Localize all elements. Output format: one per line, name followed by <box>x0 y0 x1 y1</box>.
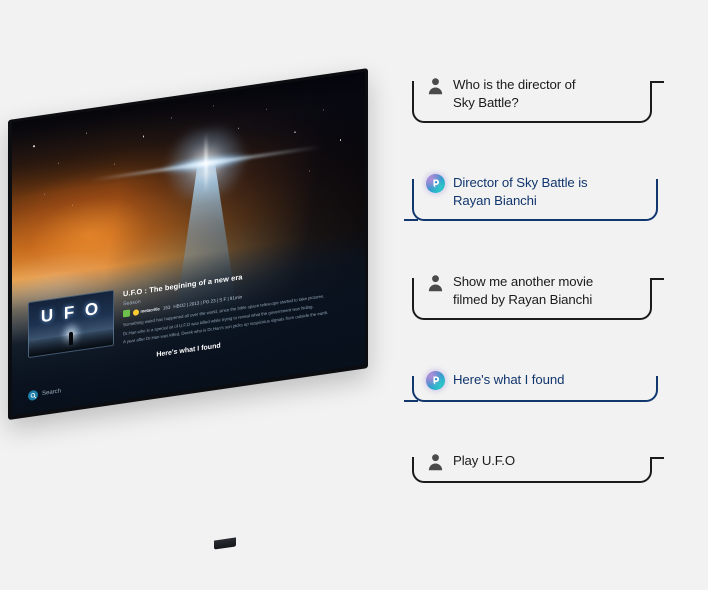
page-root: U F O U.F.O : The begining of a new era … <box>0 0 708 590</box>
chat-message-text: Show me another movie filmed by Rayan Bi… <box>453 272 593 308</box>
person-icon <box>426 76 445 95</box>
bubble-content: Here's what I found <box>404 370 694 402</box>
tv-stand <box>214 537 236 549</box>
search-icon <box>28 390 38 401</box>
television: U F O U.F.O : The begining of a new era … <box>8 120 378 490</box>
movie-poster-thumbnail[interactable]: U F O <box>28 289 114 357</box>
chat-bubble-user[interactable]: Who is the director of Sky Battle? <box>404 75 694 123</box>
chat-message-text: Play U.F.O <box>453 451 515 470</box>
tv-screen: U F O U.F.O : The begining of a new era … <box>12 72 365 416</box>
bixby-icon <box>426 371 445 390</box>
tv-bezel: U F O U.F.O : The begining of a new era … <box>8 68 368 420</box>
chat-bubble-bixby[interactable]: Here's what I found <box>404 370 694 402</box>
bubble-content: Director of Sky Battle is Rayan Bianchi <box>404 173 694 221</box>
metacritic-badge: metacritic <box>133 306 160 316</box>
chat-bubble-bixby[interactable]: Director of Sky Battle is Rayan Bianchi <box>404 173 694 221</box>
person-icon <box>426 452 445 471</box>
chat-message-text: Director of Sky Battle is Rayan Bianchi <box>453 173 588 209</box>
age-rating-badge <box>123 310 130 318</box>
bubble-content: Show me another movie filmed by Rayan Bi… <box>404 272 694 320</box>
person-icon <box>426 273 445 292</box>
metacritic-score: 153 <box>163 305 171 311</box>
metacritic-label: metacritic <box>141 306 160 314</box>
bubble-content: Play U.F.O <box>404 451 694 483</box>
chat-bubble-user[interactable]: Play U.F.O <box>404 451 694 483</box>
chat-bubble-user[interactable]: Show me another movie filmed by Rayan Bi… <box>404 272 694 320</box>
conversation-panel: Who is the director of Sky Battle? Direc… <box>404 75 694 515</box>
chat-message-text: Here's what I found <box>453 370 564 389</box>
poster-figure-silhouette <box>69 331 73 345</box>
metacritic-icon <box>133 309 139 316</box>
bubble-content: Who is the director of Sky Battle? <box>404 75 694 123</box>
ufo-lens-flare-vertical <box>205 133 208 193</box>
bixby-icon <box>426 174 445 193</box>
chat-message-text: Who is the director of Sky Battle? <box>453 75 575 111</box>
search-label: Search <box>42 388 61 397</box>
